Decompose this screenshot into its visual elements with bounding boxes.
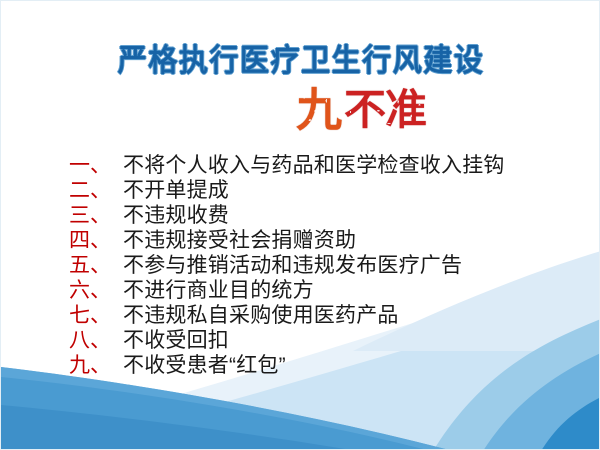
- rule-item-4: 四、 不违规接受社会捐赠资助: [69, 228, 505, 253]
- rule-text: 不开单提成: [123, 178, 229, 203]
- page-title: 严格执行医疗卫生行风建设: [19, 45, 583, 78]
- rule-item-7: 七、 不违规私自采购使用医药产品: [69, 303, 505, 328]
- rule-item-5: 五、 不参与推销活动和违规发布医疗广告: [69, 253, 505, 278]
- rule-item-1: 一、 不将个人收入与药品和医学检查收入挂钩: [69, 153, 505, 178]
- rule-number: 七、: [69, 303, 123, 328]
- rule-number: 三、: [69, 203, 123, 228]
- rule-text: 不进行商业目的统方: [123, 278, 314, 303]
- rule-text: 不违规收费: [123, 203, 229, 228]
- rule-text: 不违规私自采购使用医药产品: [123, 303, 399, 328]
- wave-band-left-main: [1, 367, 453, 450]
- title-block: 严格执行医疗卫生行风建设: [1, 45, 600, 78]
- rule-text: 不收受患者“红包”: [123, 353, 286, 378]
- wave-band-deep-right: [541, 397, 600, 450]
- rule-number: 二、: [69, 178, 123, 203]
- rule-number: 九、: [69, 353, 123, 378]
- subtitle-nine: 九: [296, 87, 342, 133]
- subtitle-block: 九不准: [1, 87, 600, 133]
- rule-number: 五、: [69, 253, 123, 278]
- wave-crest-highlight: [1, 367, 453, 450]
- rule-text: 不收受回扣: [123, 328, 229, 353]
- rule-number: 八、: [69, 328, 123, 353]
- wave-band-left-shadow: [1, 405, 357, 450]
- rule-text: 不参与推销活动和违规发布医疗广告: [123, 253, 462, 278]
- rule-number: 六、: [69, 278, 123, 303]
- subtitle-buzhun: 不准: [344, 89, 426, 131]
- slide-canvas: 严格执行医疗卫生行风建设 九不准 一、 不将个人收入与药品和医学检查收入挂钩 二…: [0, 0, 600, 450]
- rule-item-2: 二、 不开单提成: [69, 178, 505, 203]
- rule-number: 四、: [69, 228, 123, 253]
- rule-item-9: 九、 不收受患者“红包”: [69, 353, 505, 378]
- rule-item-8: 八、 不收受回扣: [69, 328, 505, 353]
- rule-item-3: 三、 不违规收费: [69, 203, 505, 228]
- rule-number: 一、: [69, 153, 123, 178]
- rule-item-6: 六、 不进行商业目的统方: [69, 278, 505, 303]
- rule-text: 不将个人收入与药品和医学检查收入挂钩: [123, 153, 505, 178]
- rule-text: 不违规接受社会捐赠资助: [123, 228, 356, 253]
- rule-list: 一、 不将个人收入与药品和医学检查收入挂钩 二、 不开单提成 三、 不违规收费 …: [69, 153, 505, 378]
